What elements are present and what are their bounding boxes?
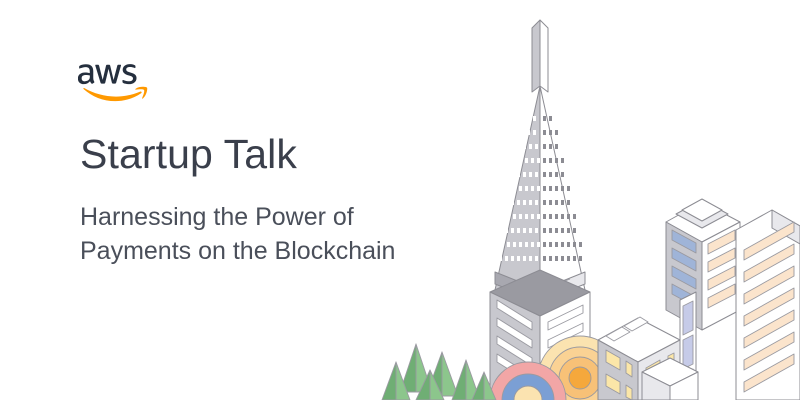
blue-window-tower [666,199,740,330]
aws-wordmark-icon [78,64,137,84]
slide-canvas: Startup Talk Harnessing the Power of Pay… [0,0,800,400]
aws-smile-arrow-icon [83,87,147,101]
peach-window-tower [736,210,800,400]
conifer-trees [382,344,496,400]
isometric-city-illustration: .o { stroke:#8C8C93; stroke-width:1; str… [380,0,800,400]
aws-logo [78,60,148,106]
pyramid-tower [495,20,585,302]
